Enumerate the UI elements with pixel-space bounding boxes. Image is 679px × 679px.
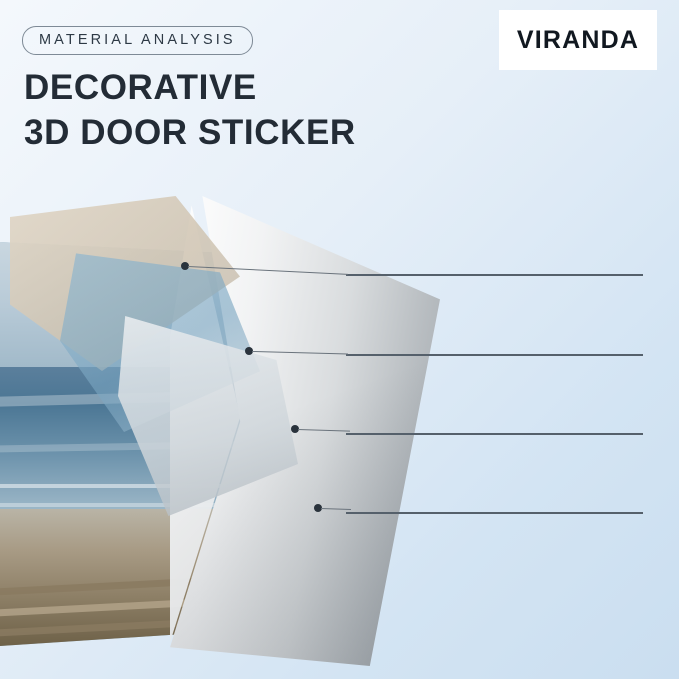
- poster-canvas: MATERIAL ANALYSIS DECORATIVE 3D DOOR STI…: [0, 0, 679, 679]
- brand-name: VIRANDA: [517, 26, 639, 55]
- page-title-line-1: DECORATIVE: [24, 68, 257, 107]
- page-title: DECORATIVE 3D DOOR STICKER: [24, 66, 356, 156]
- eyebrow-badge: MATERIAL ANALYSIS: [22, 26, 253, 55]
- brand-panel: VIRANDA: [499, 10, 657, 70]
- callout-rule-1: [346, 274, 643, 276]
- page-title-line-2: 3D DOOR STICKER: [24, 111, 356, 156]
- callout-rule-2: [346, 354, 643, 356]
- callout-rule-3: [346, 433, 643, 435]
- callout-rule-4: [346, 512, 643, 514]
